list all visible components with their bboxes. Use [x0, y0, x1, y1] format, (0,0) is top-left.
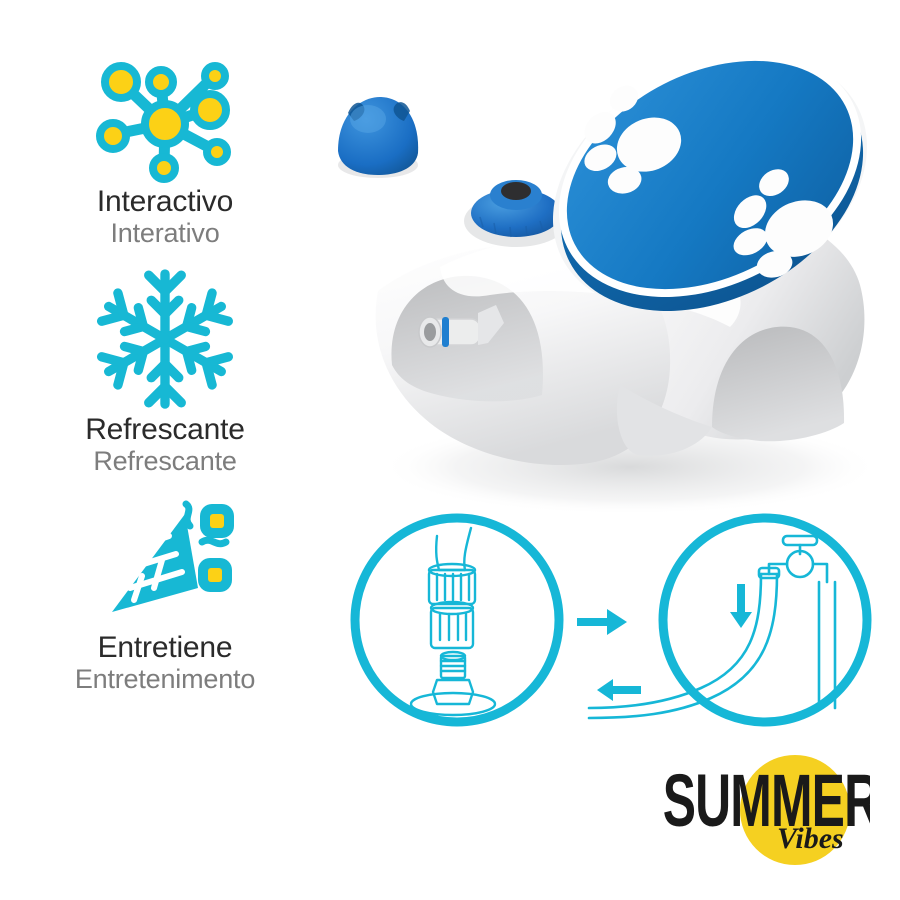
logo-secondary-text: Vibes — [777, 822, 844, 855]
flow-arrow-down — [730, 584, 752, 628]
instruction-step-2 — [589, 518, 867, 722]
feature-item-entertaining: Entretiene Entretenimento — [0, 492, 330, 694]
feature-subtitle: Entretenimento — [0, 664, 330, 694]
product-photo — [320, 55, 900, 525]
feature-subtitle: Interativo — [0, 218, 330, 248]
setup-instructions — [345, 508, 885, 743]
feature-title: Interactivo — [0, 186, 330, 218]
party-popper-icon — [0, 492, 330, 632]
feature-title: Entretiene — [0, 632, 330, 664]
flow-arrow-left — [597, 679, 641, 701]
instruction-step-1 — [355, 518, 559, 722]
feature-item-refreshing: Refrescante Refrescante — [0, 264, 330, 476]
brand-logo: SUMMER Vibes — [655, 752, 870, 867]
feature-subtitle: Refrescante — [0, 446, 330, 476]
right-arrow-icon — [577, 609, 627, 635]
feature-item-interactive: Interactivo Interativo — [0, 58, 330, 248]
product-feature-sheet: Interactivo Interativo — [0, 0, 900, 900]
feature-list: Interactivo Interativo — [0, 58, 330, 710]
snowflake-icon — [0, 264, 330, 414]
water-nozzle — [464, 180, 568, 247]
nozzle-cap — [338, 97, 418, 178]
network-nodes-icon — [0, 58, 330, 186]
feature-title: Refrescante — [0, 414, 330, 446]
